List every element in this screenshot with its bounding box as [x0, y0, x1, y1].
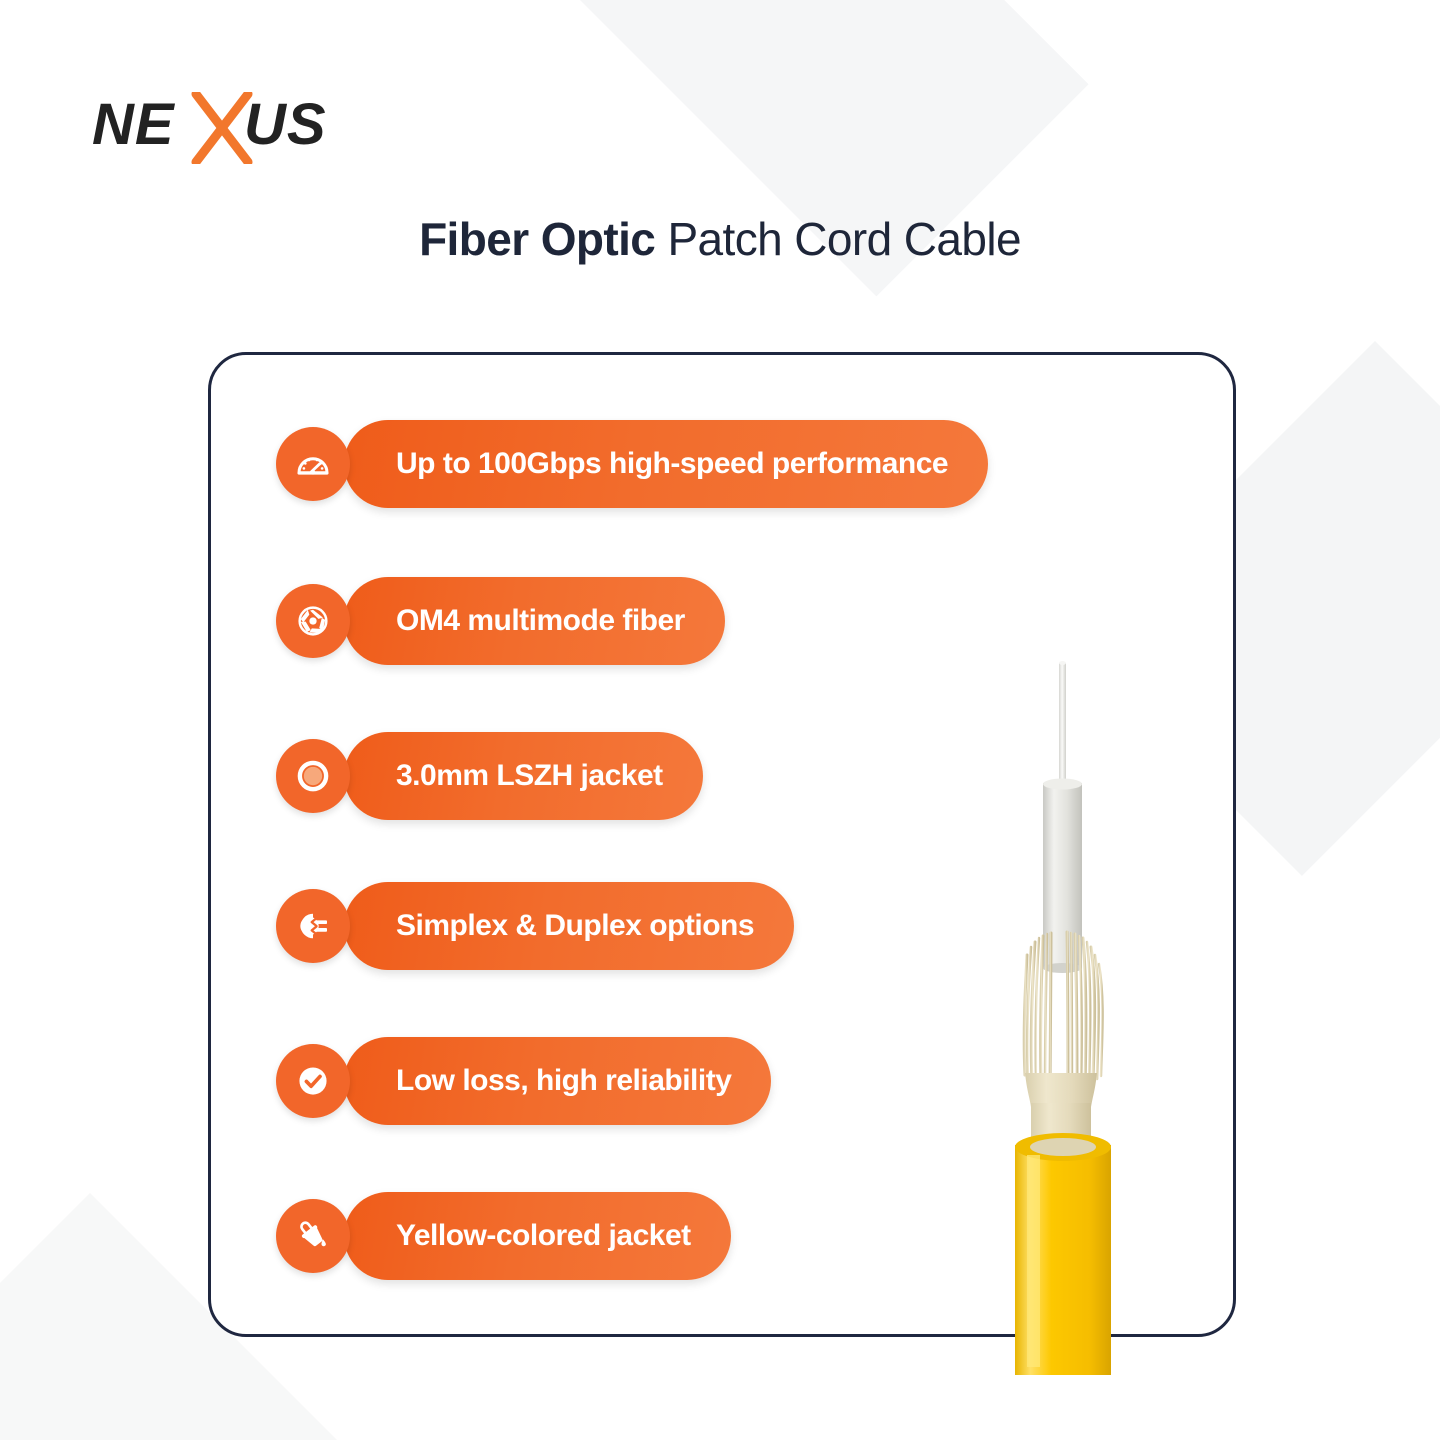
feature-pill[interactable]: Simplex & Duplex options	[344, 882, 794, 970]
feature-row[interactable]: Low loss, high reliability	[276, 1037, 771, 1125]
page-title-bold: Fiber Optic	[419, 213, 655, 265]
aramid-yarn-bundle	[1025, 1073, 1097, 1107]
feature-pill[interactable]: OM4 multimode fiber	[344, 577, 725, 665]
logo-x-accent	[196, 94, 248, 162]
chevron-watermark-right-inner	[1293, 673, 1440, 1097]
page-title: Fiber Optic Patch Cord Cable	[0, 212, 1440, 266]
check-circle-icon	[276, 1044, 350, 1118]
feature-label: 3.0mm LSZH jacket	[396, 759, 663, 793]
aramid-yarn	[1024, 932, 1102, 1088]
feature-label: Yellow-colored jacket	[396, 1219, 691, 1253]
page-title-light: Patch Cord Cable	[667, 213, 1020, 265]
feature-pill[interactable]: 3.0mm LSZH jacket	[344, 732, 703, 820]
feature-row[interactable]: Yellow-colored jacket	[276, 1192, 731, 1280]
feature-pill[interactable]: Low loss, high reliability	[344, 1037, 771, 1125]
feature-label: OM4 multimode fiber	[396, 604, 685, 638]
aperture-icon	[276, 584, 350, 658]
feature-pill[interactable]: Up to 100Gbps high-speed performance	[344, 420, 988, 508]
speedometer-icon	[276, 427, 350, 501]
paint-bucket-icon	[276, 1199, 350, 1273]
feature-pill[interactable]: Yellow-colored jacket	[344, 1192, 731, 1280]
cable-cross-section-icon	[276, 739, 350, 813]
plug-connector-icon	[276, 889, 350, 963]
feature-label: Simplex & Duplex options	[396, 909, 754, 943]
logo-text-us: US	[244, 92, 327, 157]
fiber-optic-cable-cutaway	[975, 655, 1195, 1375]
feature-label: Low loss, high reliability	[396, 1064, 731, 1098]
feature-row[interactable]: OM4 multimode fiber	[276, 577, 725, 665]
feature-row[interactable]: Simplex & Duplex options	[276, 882, 794, 970]
bare-fiber-strand	[1059, 663, 1066, 793]
feature-row[interactable]: 3.0mm LSZH jacket	[276, 732, 703, 820]
logo-text-ne: NE	[92, 92, 176, 157]
feature-label: Up to 100Gbps high-speed performance	[396, 447, 948, 481]
feature-row[interactable]: Up to 100Gbps high-speed performance	[276, 420, 988, 508]
nexus-logo: NE US	[92, 92, 352, 164]
